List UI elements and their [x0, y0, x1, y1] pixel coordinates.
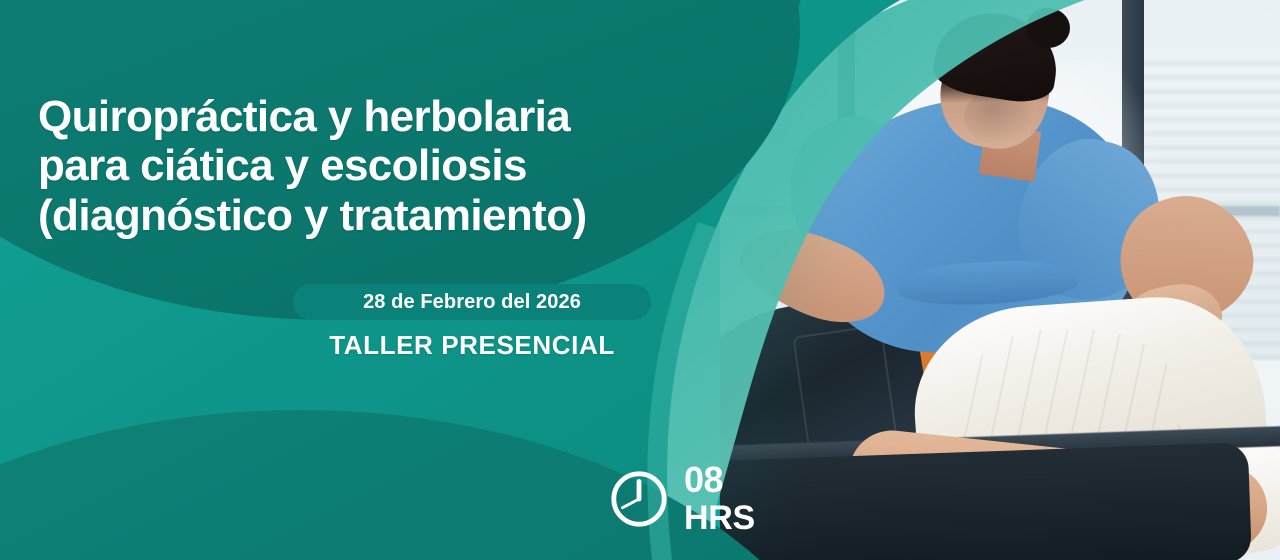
banner-content: Quiropráctica y herbolaria para ciática …	[0, 0, 1280, 560]
title-line-1: Quiropráctica y herbolaria	[38, 92, 678, 141]
duration-value: 08	[684, 462, 755, 498]
title-line-2: para ciática y escoliosis	[38, 141, 678, 190]
duration-unit: HRS	[684, 501, 755, 535]
duration-text: 08 HRS	[684, 462, 755, 535]
page-title: Quiropráctica y herbolaria para ciática …	[38, 92, 678, 240]
title-line-3: (diagnóstico y tratamiento)	[38, 191, 678, 240]
event-date-badge: 28 de Febrero del 2026	[293, 284, 651, 320]
event-format-label: TALLER PRESENCIAL	[293, 330, 651, 361]
clock-icon	[608, 468, 670, 530]
event-date-label: 28 de Febrero del 2026	[363, 291, 581, 314]
duration-block: 08 HRS	[608, 462, 755, 535]
event-banner: Quiropráctica y herbolaria para ciática …	[0, 0, 1280, 560]
